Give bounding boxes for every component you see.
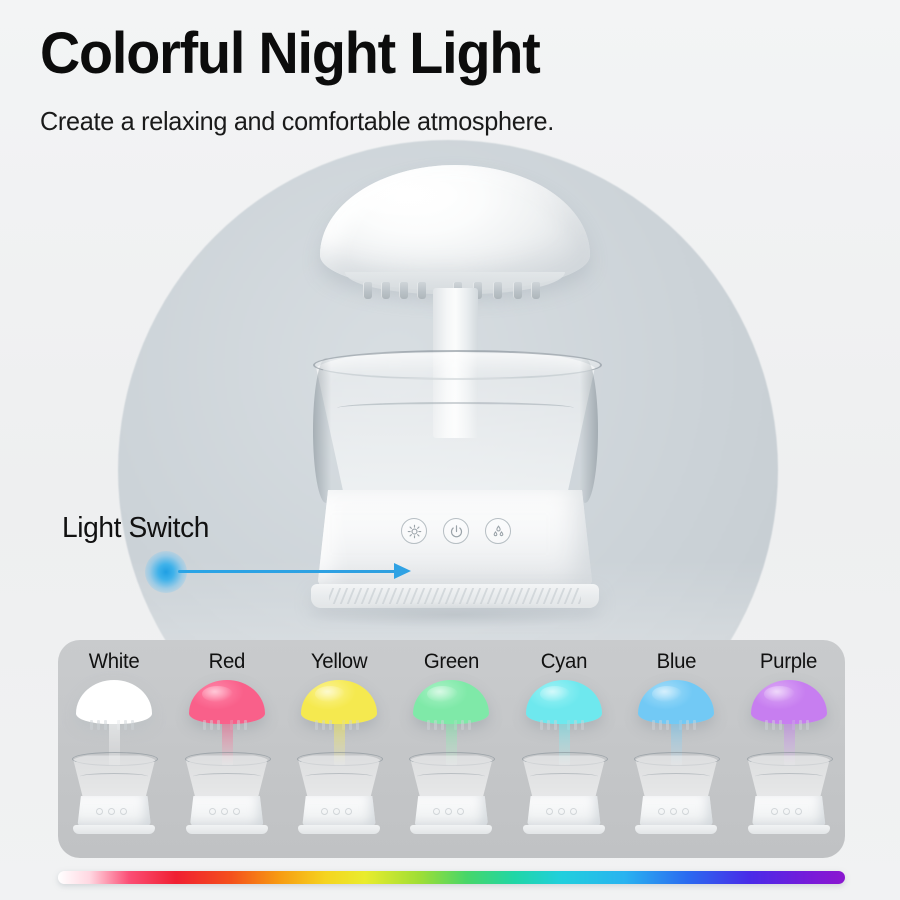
mini-humidifier xyxy=(181,680,273,845)
color-swatch-label: Purple xyxy=(760,650,817,674)
mini-cloud-cap xyxy=(751,680,827,724)
mini-wline xyxy=(642,773,710,780)
water-tank xyxy=(313,350,598,510)
mini-cloud-cap xyxy=(301,680,377,724)
light-switch-label: Light Switch xyxy=(62,512,209,545)
sun-brightness-icon xyxy=(407,524,422,539)
color-swatch-label: Blue xyxy=(657,650,697,674)
mini-foot xyxy=(410,825,492,834)
mini-wline xyxy=(755,773,823,780)
mini-humidifier xyxy=(293,680,385,845)
mini-control-dots xyxy=(546,808,577,815)
mini-foot xyxy=(635,825,717,834)
power-icon xyxy=(449,524,464,539)
mini-cloud-cap xyxy=(189,680,265,724)
mini-humidifier xyxy=(405,680,497,845)
mist-button[interactable] xyxy=(485,518,511,544)
callout-line xyxy=(178,570,403,573)
color-swatch-red[interactable]: Red xyxy=(170,640,282,858)
mini-humidifier xyxy=(68,680,160,845)
mini-rim xyxy=(634,752,720,766)
mini-rim xyxy=(72,752,158,766)
product-marketing-image: Colorful Night Light Create a relaxing a… xyxy=(0,0,900,900)
mini-humidifier xyxy=(630,680,722,845)
rgb-color-spectrum-bar xyxy=(58,871,845,884)
power-button[interactable] xyxy=(443,518,469,544)
mini-control-dots xyxy=(96,808,127,815)
tank-edge-left xyxy=(313,358,339,503)
mini-control-dots xyxy=(433,808,464,815)
color-swatch-label: Yellow xyxy=(311,650,367,674)
mini-control-dots xyxy=(321,808,352,815)
control-button-group xyxy=(401,518,511,544)
color-swatch-label: Green xyxy=(424,650,479,674)
tank-rim xyxy=(313,350,602,380)
mini-foot xyxy=(748,825,830,834)
mini-rim xyxy=(747,752,833,766)
mini-wline xyxy=(417,773,485,780)
mist-droplet-icon xyxy=(491,524,506,539)
mini-rim xyxy=(185,752,271,766)
mini-cloud-cap xyxy=(638,680,714,724)
color-swatch-label: Cyan xyxy=(541,650,587,674)
mini-rim xyxy=(297,752,383,766)
mini-wline xyxy=(530,773,598,780)
mini-foot xyxy=(298,825,380,834)
color-swatch-yellow[interactable]: Yellow xyxy=(283,640,395,858)
mini-control-dots xyxy=(209,808,240,815)
color-swatch-blue[interactable]: Blue xyxy=(620,640,732,858)
color-swatch-cyan[interactable]: Cyan xyxy=(508,640,620,858)
color-swatch-label: White xyxy=(89,650,140,674)
page-title: Colorful Night Light xyxy=(40,24,540,85)
mini-control-dots xyxy=(658,808,689,815)
mini-cloud-cap xyxy=(526,680,602,724)
mini-foot xyxy=(186,825,268,834)
tank-edge-right xyxy=(572,358,598,503)
color-swatch-purple[interactable]: Purple xyxy=(733,640,845,858)
mini-control-dots xyxy=(771,808,802,815)
color-swatch-green[interactable]: Green xyxy=(395,640,507,858)
mini-humidifier xyxy=(743,680,835,845)
color-swatch-row: WhiteRedYellowGreenCyanBluePurple xyxy=(58,640,845,858)
page-subtitle: Create a relaxing and comfortable atmosp… xyxy=(40,106,554,137)
mini-humidifier xyxy=(518,680,610,845)
callout-arrow-icon xyxy=(394,563,411,579)
brightness-button[interactable] xyxy=(401,518,427,544)
mini-foot xyxy=(523,825,605,834)
mini-wline xyxy=(305,773,373,780)
mini-cloud-cap xyxy=(413,680,489,724)
tank-waterline xyxy=(337,402,574,414)
mini-foot xyxy=(73,825,155,834)
color-swatch-white[interactable]: White xyxy=(58,640,170,858)
mini-cloud-cap xyxy=(76,680,152,724)
color-swatch-label: Red xyxy=(208,650,244,674)
mini-rim xyxy=(409,752,495,766)
mini-wline xyxy=(80,773,148,780)
mini-wline xyxy=(193,773,261,780)
color-swatch-panel: WhiteRedYellowGreenCyanBluePurple xyxy=(58,640,845,858)
mini-rim xyxy=(522,752,608,766)
